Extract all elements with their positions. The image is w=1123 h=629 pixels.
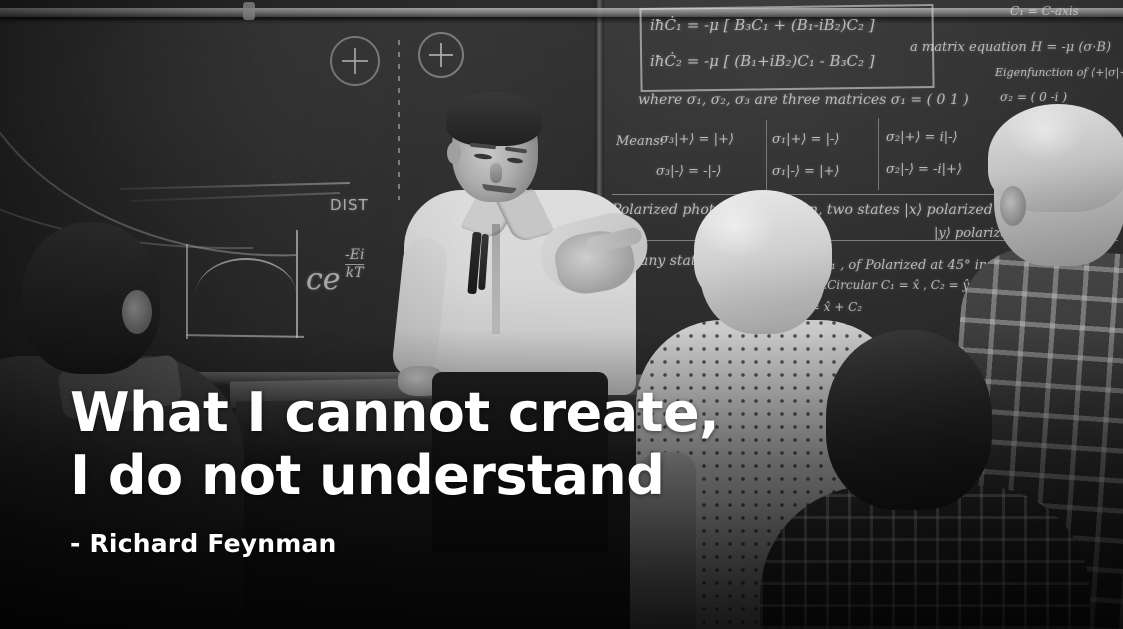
quote-card: DIST ce -Ei kT iħĊ₁ = -μ [ B₃C₁ + (B₁-iB…	[0, 0, 1123, 629]
charge-circle-icon	[418, 32, 464, 78]
student-blonde-hair	[694, 190, 832, 310]
quote-attribution: - Richard Feynman	[70, 529, 719, 558]
feynman-hair	[446, 92, 542, 146]
chalk-distribution-curve	[196, 258, 296, 330]
chalk-plot-axis-y	[186, 244, 188, 339]
student-right-ear	[1000, 186, 1026, 226]
quote-overlay: What I cannot create, I do not understan…	[70, 381, 719, 558]
chalk-table-divider	[878, 118, 879, 190]
quote-line-2: I do not understand	[70, 444, 719, 507]
quote-line-1: What I cannot create,	[70, 381, 719, 444]
feynman-shirt-placket	[492, 224, 500, 334]
feynman-nose	[490, 163, 502, 183]
chalk-dotted-axis	[398, 40, 400, 200]
student-center-head	[826, 330, 992, 510]
student-left-ear	[122, 290, 152, 334]
feynman-ear	[447, 142, 461, 164]
chalk-table-divider	[766, 120, 767, 192]
chalk-equation-box	[639, 4, 934, 92]
chalk-plot-axis-y2	[296, 230, 298, 338]
charge-circle-icon	[330, 36, 380, 86]
